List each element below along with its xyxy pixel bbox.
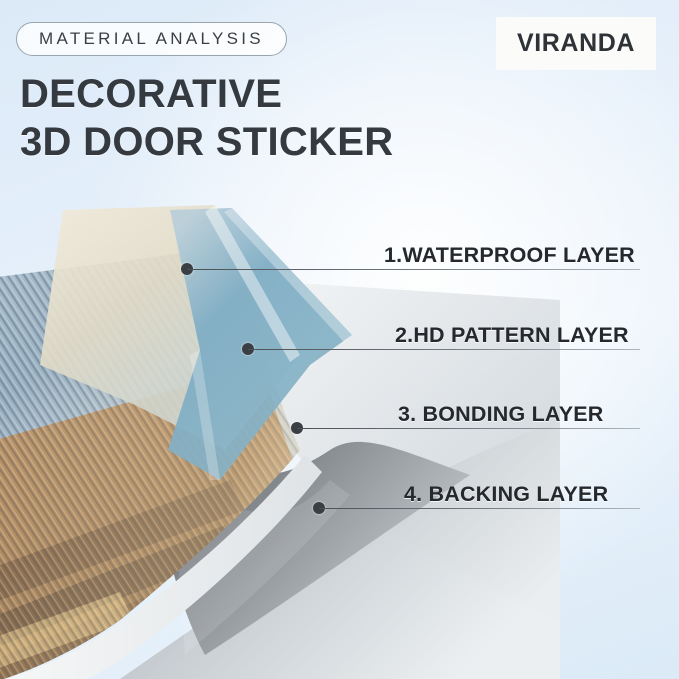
material-analysis-badge: MATERIAL ANALYSIS xyxy=(16,22,287,56)
callout-label-1: 1.WATERPROOF LAYER xyxy=(384,243,635,268)
callout-line-1 xyxy=(187,269,640,270)
page-title-line-2: 3D DOOR STICKER xyxy=(20,118,393,166)
callout-label-3: 3. BONDING LAYER xyxy=(398,402,604,427)
callout-line-3 xyxy=(297,428,640,429)
brand-logo: VIRANDA xyxy=(496,17,656,70)
page-title: DECORATIVE 3D DOOR STICKER xyxy=(20,70,393,166)
badge-label: MATERIAL ANALYSIS xyxy=(39,29,264,49)
material-analysis-infographic: MATERIAL ANALYSIS DECORATIVE 3D DOOR STI… xyxy=(0,0,679,679)
callout-line-2 xyxy=(248,349,640,350)
callout-label-4: 4. BACKING LAYER xyxy=(404,482,608,507)
callout-line-4 xyxy=(319,508,640,509)
callout-label-2: 2.HD PATTERN LAYER xyxy=(395,323,629,348)
brand-logo-text: VIRANDA xyxy=(517,29,635,58)
page-title-line-1: DECORATIVE xyxy=(20,70,393,118)
